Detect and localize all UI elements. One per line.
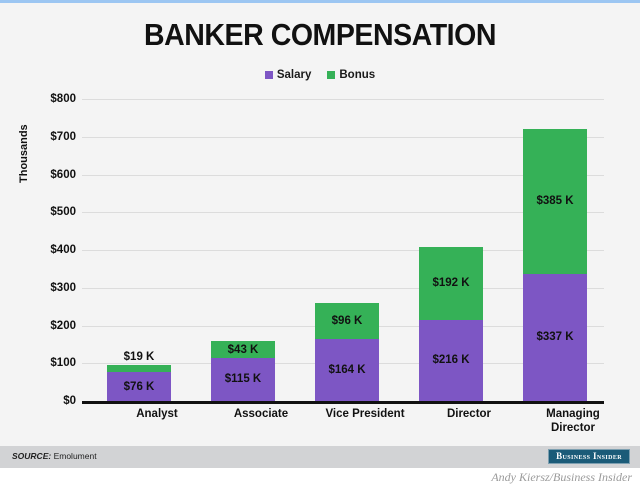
y-tick-label-700: $700 — [50, 131, 76, 143]
bar-label-bonus-associate: $43 K — [228, 344, 259, 356]
credit-line: Andy Kiersz/Business Insider — [491, 470, 632, 485]
legend-label-salary: Salary — [277, 69, 312, 81]
bar-label-bonus-managing-director: $385 K — [536, 195, 573, 207]
bar-group-managing-director[interactable]: $385 K $337 K — [523, 129, 587, 401]
y-tick-label-0: $0 — [63, 395, 76, 407]
x-axis-line — [82, 401, 604, 404]
chart-legend: Salary Bonus — [0, 69, 640, 81]
bar-segment-bonus-vice-president[interactable]: $96 K — [315, 303, 379, 339]
bar-segment-salary-associate[interactable]: $115 K — [211, 358, 275, 401]
y-axis-title: Thousands — [18, 124, 30, 183]
bar-segment-salary-vice-president[interactable]: $164 K — [315, 339, 379, 401]
legend-swatch-salary — [265, 71, 273, 79]
bar-label-bonus-vice-president: $96 K — [332, 315, 363, 327]
y-tick-label-500: $500 — [50, 206, 76, 218]
bar-segment-salary-analyst[interactable]: $76 K — [107, 372, 171, 401]
x-tick-label-managing-director: Managing Director — [498, 407, 640, 435]
business-insider-badge: Business Insider — [548, 449, 630, 464]
chart-card: BANKER COMPENSATION Salary Bonus Thousan… — [0, 3, 640, 465]
bar-label-salary-analyst: $76 K — [124, 381, 155, 393]
bar-segment-salary-managing-director[interactable]: $337 K — [523, 274, 587, 401]
bar-segment-bonus-associate[interactable]: $43 K — [211, 341, 275, 357]
legend-item-bonus[interactable]: Bonus — [327, 69, 375, 81]
x-tick-label-managing-director-text: Managing Director — [533, 407, 613, 435]
source-name: Emolument — [54, 451, 97, 461]
source-prefix: SOURCE: — [12, 451, 51, 461]
chart-footer-band: SOURCE: Emolument Business Insider — [0, 446, 640, 468]
bar-label-salary-managing-director: $337 K — [536, 331, 573, 343]
bar-series-container: $19 K $76 K $43 K $115 K $96 K — [82, 99, 604, 401]
bar-segment-salary-director[interactable]: $216 K — [419, 320, 483, 402]
bar-group-director[interactable]: $192 K $216 K — [419, 247, 483, 401]
bar-label-salary-vice-president: $164 K — [328, 364, 365, 376]
bar-segment-bonus-director[interactable]: $192 K — [419, 247, 483, 320]
bar-segment-bonus-managing-director[interactable]: $385 K — [523, 129, 587, 274]
bar-label-bonus-director: $192 K — [432, 277, 469, 289]
y-tick-label-300: $300 — [50, 282, 76, 294]
y-tick-label-200: $200 — [50, 320, 76, 332]
bar-group-associate[interactable]: $43 K $115 K — [211, 341, 275, 401]
bar-segment-bonus-analyst[interactable]: $19 K — [107, 365, 171, 372]
y-tick-label-400: $400 — [50, 244, 76, 256]
bar-label-salary-director: $216 K — [432, 354, 469, 366]
legend-swatch-bonus — [327, 71, 335, 79]
bar-label-salary-associate: $115 K — [225, 373, 261, 385]
chart-page: BANKER COMPENSATION Salary Bonus Thousan… — [0, 0, 640, 495]
chart-title: BANKER COMPENSATION — [26, 17, 615, 53]
legend-item-salary[interactable]: Salary — [265, 69, 312, 81]
bar-group-analyst[interactable]: $19 K $76 K — [107, 365, 171, 401]
source-note: SOURCE: Emolument — [12, 451, 97, 461]
legend-label-bonus: Bonus — [339, 69, 375, 81]
y-tick-label-800: $800 — [50, 93, 76, 105]
bar-label-bonus-analyst: $19 K — [124, 351, 155, 363]
y-tick-label-100: $100 — [50, 357, 76, 369]
bar-group-vice-president[interactable]: $96 K $164 K — [315, 303, 379, 401]
y-tick-label-600: $600 — [50, 169, 76, 181]
